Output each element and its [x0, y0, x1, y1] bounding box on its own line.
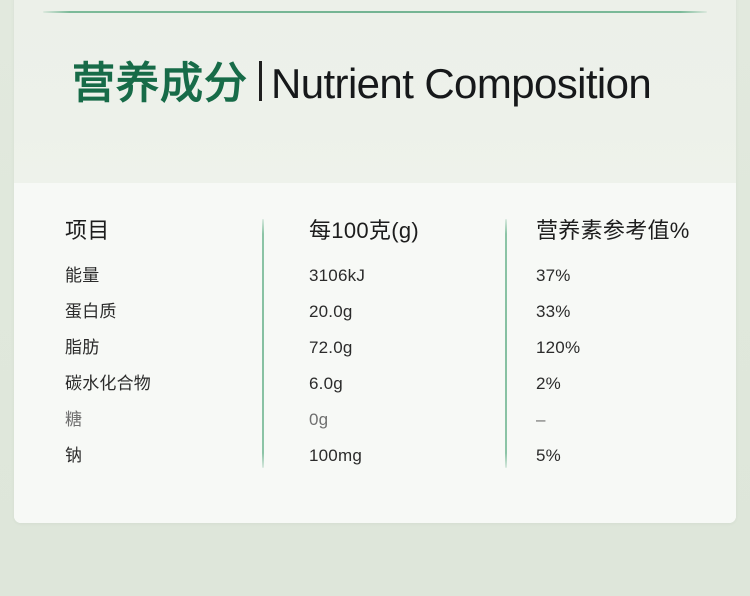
table-cell-nrv: 33% — [536, 294, 726, 330]
table-column-amount: 每100克(g) 3106kJ 20.0g 72.0g 6.0g 0g 100m… — [309, 218, 489, 474]
nutrition-table: 项目 能量 蛋白质 脂肪 碳水化合物 糖 钠 每100克(g) 3106kJ 2… — [14, 0, 736, 523]
table-cell-nrv: 2% — [536, 366, 726, 402]
table-column-nrv: 营养素参考值% 37% 33% 120% 2% – 5% — [536, 218, 726, 474]
table-cell-nrv: 120% — [536, 330, 726, 366]
table-cell-amount: 72.0g — [309, 330, 489, 366]
column-divider-2 — [505, 219, 507, 468]
table-row: 碳水化合物 — [65, 366, 245, 402]
nutrition-card: 营养成分 Nutrient Composition 项目 能量 蛋白质 脂肪 碳… — [14, 0, 736, 523]
table-row: 糖 — [65, 402, 245, 438]
column-cells-amount: 3106kJ 20.0g 72.0g 6.0g 0g 100mg — [309, 258, 489, 474]
column-header-item: 项目 — [65, 218, 245, 244]
table-cell-amount: 0g — [309, 402, 489, 438]
column-divider-1 — [262, 219, 264, 468]
column-cells-item: 能量 蛋白质 脂肪 碳水化合物 糖 钠 — [65, 258, 245, 474]
table-column-item: 项目 能量 蛋白质 脂肪 碳水化合物 糖 钠 — [65, 218, 245, 474]
table-row: 蛋白质 — [65, 294, 245, 330]
table-cell-amount: 6.0g — [309, 366, 489, 402]
column-header-nrv: 营养素参考值% — [536, 218, 726, 244]
table-row: 钠 — [65, 438, 245, 474]
table-cell-amount: 20.0g — [309, 294, 489, 330]
table-row: 能量 — [65, 258, 245, 294]
column-header-amount: 每100克(g) — [309, 218, 489, 244]
table-cell-nrv: – — [536, 402, 726, 438]
table-cell-nrv: 5% — [536, 438, 726, 474]
table-row: 脂肪 — [65, 330, 245, 366]
table-cell-amount: 3106kJ — [309, 258, 489, 294]
table-cell-amount: 100mg — [309, 438, 489, 474]
nutrition-panel: 营养成分 Nutrient Composition 项目 能量 蛋白质 脂肪 碳… — [0, 0, 750, 596]
table-cell-nrv: 37% — [536, 258, 726, 294]
column-cells-nrv: 37% 33% 120% 2% – 5% — [536, 258, 726, 474]
